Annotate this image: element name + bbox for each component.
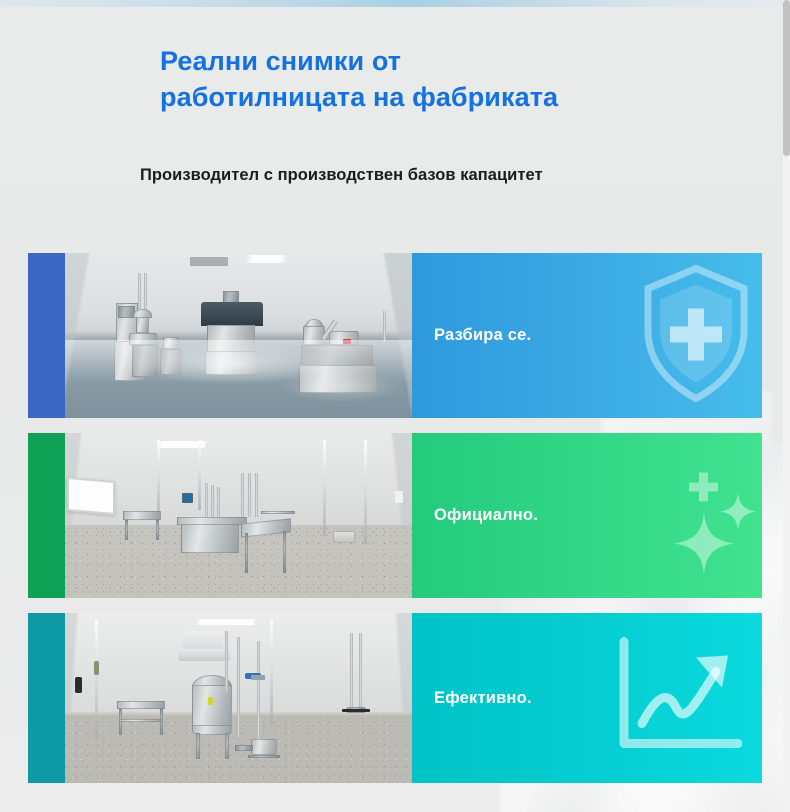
factory-card[interactable]: Ефективно.	[28, 613, 762, 783]
workshop-photo	[65, 613, 412, 783]
card-label: Разбира се.	[434, 326, 531, 345]
card-label: Официално.	[434, 506, 538, 525]
page-scrollbar[interactable]	[783, 0, 790, 812]
workshop-photo	[65, 253, 412, 418]
floor-reflection	[65, 340, 412, 418]
page-title: Реални снимки от работилницата на фабрик…	[160, 44, 558, 115]
page-header: Реални снимки от работилницата на фабрик…	[160, 44, 558, 115]
factory-card[interactable]: Официално.	[28, 433, 762, 598]
sparkle-icon	[626, 438, 756, 593]
card-label: Ефективно.	[434, 689, 532, 708]
card-accent-stripe	[28, 433, 65, 598]
scrollbar-thumb[interactable]	[783, 0, 790, 156]
factory-photo-card-list: Разбира се.	[28, 253, 762, 783]
growth-chart-icon	[612, 636, 742, 761]
shield-plus-icon	[636, 258, 756, 413]
page-subtitle: Производител с производствен базов капац…	[140, 166, 543, 185]
card-color-panel: Официално.	[412, 433, 762, 598]
workshop-photo	[65, 433, 412, 598]
card-accent-stripe	[28, 253, 65, 418]
top-accent-strip	[0, 0, 790, 7]
factory-card[interactable]: Разбира се.	[28, 253, 762, 418]
card-accent-stripe	[28, 613, 65, 783]
card-color-panel: Ефективно.	[412, 613, 762, 783]
card-color-panel: Разбира се.	[412, 253, 762, 418]
